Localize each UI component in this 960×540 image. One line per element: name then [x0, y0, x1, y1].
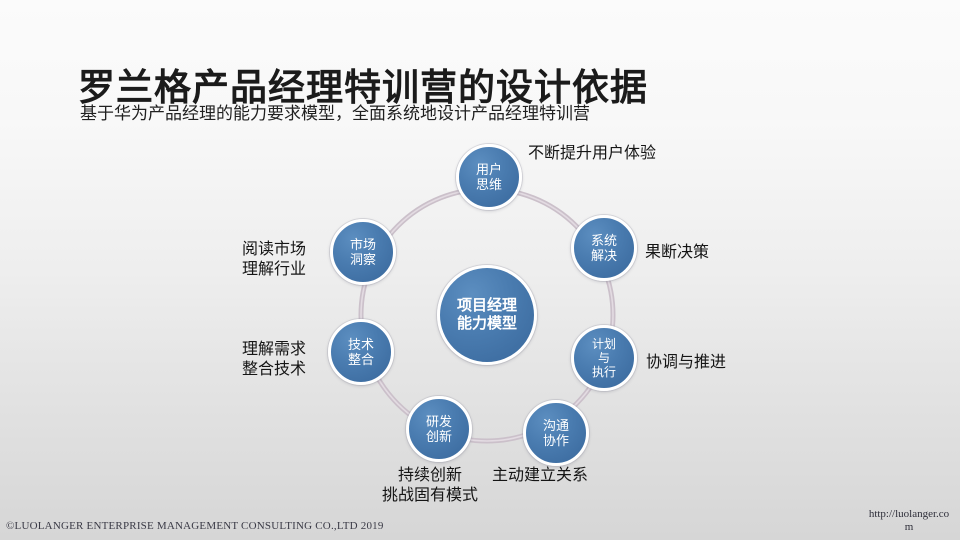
node-system-solving-line-2: 解决 [591, 248, 617, 263]
node-market-insight-line-2: 洞察 [350, 252, 376, 267]
annotation-market-insight-line-1: 阅读市场 [242, 240, 306, 260]
center-node-capability-model[interactable]: 项目经理 能力模型 [437, 265, 537, 365]
annotation-plan-execute: 协调与推进 [646, 353, 726, 373]
node-user-thinking-line-1: 用户 [476, 162, 502, 177]
annotation-rd-innovation-line-2: 挑战固有模式 [382, 486, 478, 506]
node-communication-line-2: 协作 [543, 433, 569, 448]
node-tech-integration-line-1: 技术 [348, 337, 374, 352]
capability-model-diagram: 项目经理 能力模型 用户 思维 不断提升用户体验 系统 解决 果断决策 计划 与… [0, 0, 960, 540]
footer-website[interactable]: http://luolanger.com [866, 508, 952, 534]
node-tech-integration-line-2: 整合 [348, 352, 374, 367]
node-system-solving[interactable]: 系统 解决 [571, 215, 637, 281]
annotation-tech-integration-line-1: 理解需求 [242, 340, 306, 360]
node-rd-innovation[interactable]: 研发 创新 [406, 396, 472, 462]
node-plan-execute[interactable]: 计划 与 执行 [571, 325, 637, 391]
node-market-insight-line-1: 市场 [350, 237, 376, 252]
node-communication-line-1: 沟通 [543, 418, 569, 433]
annotation-system-solving: 果断决策 [645, 243, 709, 263]
node-system-solving-line-1: 系统 [591, 233, 617, 248]
annotation-rd-innovation: 持续创新 挑战固有模式 [382, 466, 478, 507]
node-tech-integration[interactable]: 技术 整合 [328, 319, 394, 385]
node-rd-innovation-line-1: 研发 [426, 414, 452, 429]
annotation-rd-innovation-line-1: 持续创新 [382, 466, 478, 486]
annotation-tech-integration-line-2: 整合技术 [242, 360, 306, 380]
node-user-thinking-line-2: 思维 [476, 177, 502, 192]
slide-canvas: 罗兰格产品经理特训营的设计依据 基于华为产品经理的能力要求模型，全面系统地设计产… [0, 0, 960, 540]
annotation-system-solving-line-1: 果断决策 [645, 243, 709, 263]
annotation-communication: 主动建立关系 [492, 466, 588, 486]
node-market-insight[interactable]: 市场 洞察 [330, 219, 396, 285]
annotation-user-thinking: 不断提升用户体验 [528, 144, 656, 164]
node-user-thinking[interactable]: 用户 思维 [456, 144, 522, 210]
center-node-line-1: 项目经理 [457, 297, 517, 315]
annotation-tech-integration: 理解需求 整合技术 [242, 340, 306, 381]
annotation-market-insight: 阅读市场 理解行业 [242, 240, 306, 281]
node-rd-innovation-line-2: 创新 [426, 429, 452, 444]
footer-copyright: ©LUOLANGER ENTERPRISE MANAGEMENT CONSULT… [6, 520, 384, 532]
node-plan-execute-line-3: 执行 [592, 365, 616, 379]
node-plan-execute-line-2: 与 [598, 351, 610, 365]
center-node-line-2: 能力模型 [457, 315, 517, 333]
annotation-user-thinking-line-1: 不断提升用户体验 [528, 144, 656, 164]
annotation-plan-execute-line-1: 协调与推进 [646, 353, 726, 373]
node-plan-execute-line-1: 计划 [592, 337, 616, 351]
node-communication[interactable]: 沟通 协作 [523, 400, 589, 466]
annotation-communication-line-1: 主动建立关系 [492, 466, 588, 486]
annotation-market-insight-line-2: 理解行业 [242, 260, 306, 280]
